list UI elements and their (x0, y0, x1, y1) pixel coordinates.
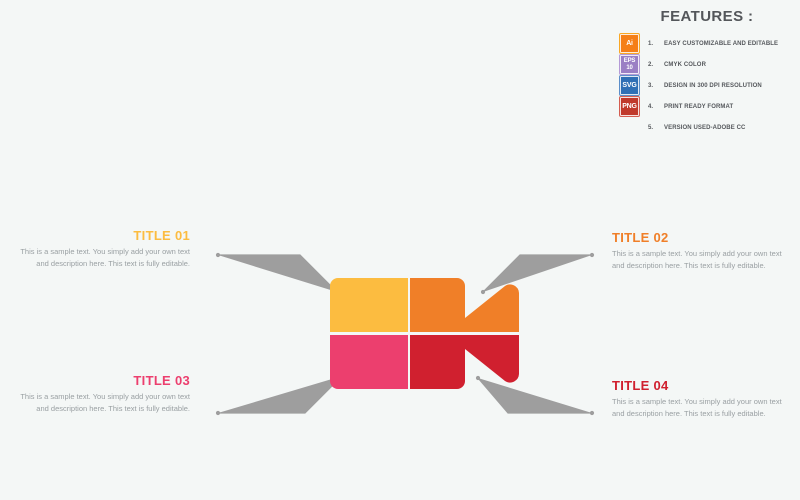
feature-row: EPS10 2. CMYK COLOR (620, 54, 800, 75)
text-block-title-03: TITLE 03 This is a sample text. You simp… (18, 373, 190, 415)
quadrant-top-right[interactable] (410, 278, 519, 332)
connector-dot (590, 411, 594, 415)
eps10-icon: EPS10 (620, 55, 639, 74)
features-panel: FEATURES : Ai 1. EASY CUSTOMIZABLE AND E… (620, 4, 800, 139)
feature-label: EASY CUSTOMIZABLE AND EDITABLE (664, 41, 778, 47)
feature-number: 2. (648, 62, 664, 68)
badge-label: Ai (626, 40, 633, 47)
feature-number: 1. (648, 41, 664, 47)
feature-label: DESIGN IN 300 DPI RESOLUTION (664, 83, 762, 89)
block-title: TITLE 01 (18, 228, 190, 243)
badge-label: PNG (622, 103, 637, 110)
connector-dot (590, 253, 594, 257)
badge-label: SVG (622, 82, 636, 89)
feature-row: SVG 3. DESIGN IN 300 DPI RESOLUTION (620, 75, 800, 96)
quadrant-top-left[interactable] (330, 278, 408, 332)
connector-01 (218, 255, 337, 292)
feature-number: 3. (648, 83, 664, 89)
feature-row: 5. VERSION USED-ADOBE CC (620, 117, 800, 138)
text-block-title-04: TITLE 04 This is a sample text. You simp… (612, 378, 784, 420)
block-body: This is a sample text. You simply add yo… (612, 396, 784, 420)
text-block-title-02: TITLE 02 This is a sample text. You simp… (612, 230, 784, 272)
k-letter-infographic (330, 278, 530, 390)
feature-label: CMYK COLOR (664, 62, 706, 68)
connector-dot (216, 411, 220, 415)
block-body: This is a sample text. You simply add yo… (612, 248, 784, 272)
block-body: This is a sample text. You simply add yo… (18, 246, 190, 270)
quadrant-bottom-right[interactable] (410, 335, 519, 389)
block-body: This is a sample text. You simply add yo… (18, 391, 190, 415)
block-title: TITLE 02 (612, 230, 784, 245)
block-title: TITLE 03 (18, 373, 190, 388)
feature-label: PRINT READY FORMAT (664, 104, 733, 110)
feature-label: VERSION USED-ADOBE CC (664, 125, 745, 131)
svg-icon: SVG (620, 76, 639, 95)
block-title: TITLE 04 (612, 378, 784, 393)
png-icon: PNG (620, 97, 639, 116)
badge-label: EPS10 (624, 58, 635, 71)
feature-row: PNG 4. PRINT READY FORMAT (620, 96, 800, 117)
quadrant-bottom-left[interactable] (330, 335, 408, 389)
feature-number: 4. (648, 104, 664, 110)
connector-dot (216, 253, 220, 257)
text-block-title-01: TITLE 01 This is a sample text. You simp… (18, 228, 190, 270)
features-title: FEATURES : (620, 8, 800, 25)
connector-03 (218, 376, 342, 413)
feature-number: 5. (648, 125, 664, 131)
illustrator-ai-icon: Ai (620, 34, 639, 53)
feature-row: Ai 1. EASY CUSTOMIZABLE AND EDITABLE (620, 33, 800, 54)
